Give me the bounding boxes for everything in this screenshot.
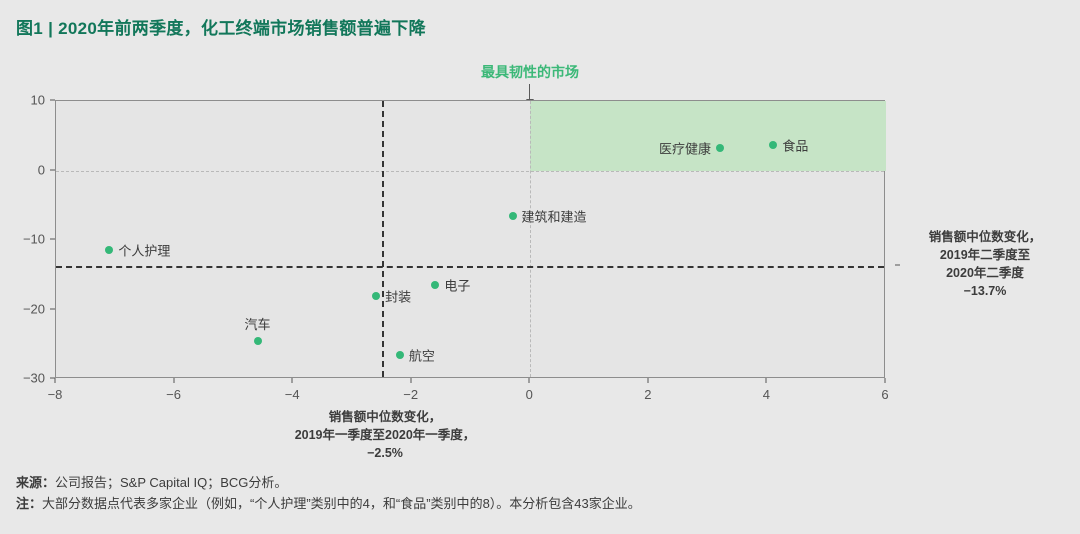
- data-point-label: 航空: [409, 345, 435, 364]
- data-point-label: 电子: [444, 276, 470, 295]
- x-axis-tick-label: −2: [403, 387, 418, 402]
- median-line-y: [56, 266, 884, 268]
- data-point[interactable]: [716, 144, 724, 152]
- y-axis-title-line2: 2019年二季度至: [895, 246, 1075, 264]
- data-point[interactable]: [431, 281, 439, 289]
- data-point-label: 医疗健康: [659, 139, 711, 158]
- page-title: 图1 | 2020年前两季度，化工终端市场销售额普遍下降: [16, 14, 426, 39]
- data-point[interactable]: [769, 141, 777, 149]
- x-axis-tick-mark: [766, 378, 767, 383]
- note-text: 大部分数据点代表多家企业（例如，“个人护理”类别中的4，和“食品”类别中的8）。…: [42, 496, 641, 511]
- y-axis-tick-label: −10: [23, 232, 45, 247]
- x-axis-tick-mark: [647, 378, 648, 383]
- x-axis-tick-mark: [885, 378, 886, 383]
- x-axis-title-line3: −2.5%: [295, 444, 476, 462]
- y-axis-tick-label: −20: [23, 301, 45, 316]
- y-axis-title: 销售额中位数变化， 2019年二季度至 2020年二季度 −13.7%: [895, 228, 1075, 301]
- x-axis-tick-label: 4: [763, 387, 770, 402]
- x-axis-tick-label: −4: [285, 387, 300, 402]
- data-point-label: 个人护理: [118, 241, 170, 260]
- y-axis-tick-label: 0: [38, 162, 45, 177]
- y-axis-title-line1: 销售额中位数变化，: [895, 228, 1075, 246]
- annotation-label: 最具韧性的市场: [420, 62, 640, 82]
- x-axis-tick-label: 2: [644, 387, 651, 402]
- data-point[interactable]: [509, 212, 517, 220]
- x-axis-tick-mark: [292, 378, 293, 383]
- data-point[interactable]: [372, 292, 380, 300]
- data-point-label: 食品: [782, 136, 808, 155]
- y-axis-title-line4: −13.7%: [895, 282, 1075, 300]
- note-line: 注：大部分数据点代表多家企业（例如，“个人护理”类别中的4，和“食品”类别中的8…: [16, 493, 641, 514]
- x-axis-title-line2: 2019年一季度至2020年一季度，: [295, 426, 476, 444]
- data-point[interactable]: [396, 351, 404, 359]
- scatter-plot-area: 个人护理汽车封装航空电子建筑和建造医疗健康食品: [55, 100, 885, 378]
- y-axis-tick-mark: [50, 100, 55, 101]
- source-line: 来源：公司报告；S&P Capital IQ；BCG分析。: [16, 472, 641, 493]
- data-point-label: 封装: [385, 286, 411, 305]
- x-axis-tick-mark: [173, 378, 174, 383]
- x-axis-tick-mark: [55, 378, 56, 383]
- source-text: 公司报告；S&P Capital IQ；BCG分析。: [55, 475, 287, 490]
- data-point[interactable]: [254, 337, 262, 345]
- median-line-x: [382, 101, 384, 377]
- zero-line-horizontal: [56, 171, 884, 172]
- resilient-markets-band: [530, 101, 886, 171]
- source-label: 来源：: [16, 475, 55, 490]
- data-point-label: 汽车: [245, 314, 271, 333]
- y-axis-tick-label: 10: [31, 93, 45, 108]
- x-axis-title-line1: 销售额中位数变化，: [295, 408, 476, 426]
- x-axis-tick-label: 6: [881, 387, 888, 402]
- x-axis-title: 销售额中位数变化， 2019年一季度至2020年一季度， −2.5%: [295, 408, 476, 462]
- x-axis-tick-label: 0: [526, 387, 533, 402]
- data-point-label: 建筑和建造: [522, 206, 587, 225]
- y-axis-tick-label: −30: [23, 371, 45, 386]
- zero-line-vertical: [530, 101, 531, 377]
- y-axis-tick-mark: [50, 169, 55, 170]
- footer: 来源：公司报告；S&P Capital IQ；BCG分析。 注：大部分数据点代表…: [16, 472, 641, 515]
- y-axis-title-line3: 2020年二季度: [895, 264, 1075, 282]
- note-label: 注：: [16, 496, 42, 511]
- x-axis-tick-label: −6: [166, 387, 181, 402]
- x-axis-tick-label: −8: [48, 387, 63, 402]
- data-point[interactable]: [105, 246, 113, 254]
- y-axis-tick-mark: [50, 308, 55, 309]
- y-axis-tick-mark: [50, 239, 55, 240]
- x-axis-tick-mark: [529, 378, 530, 383]
- x-axis-tick-mark: [410, 378, 411, 383]
